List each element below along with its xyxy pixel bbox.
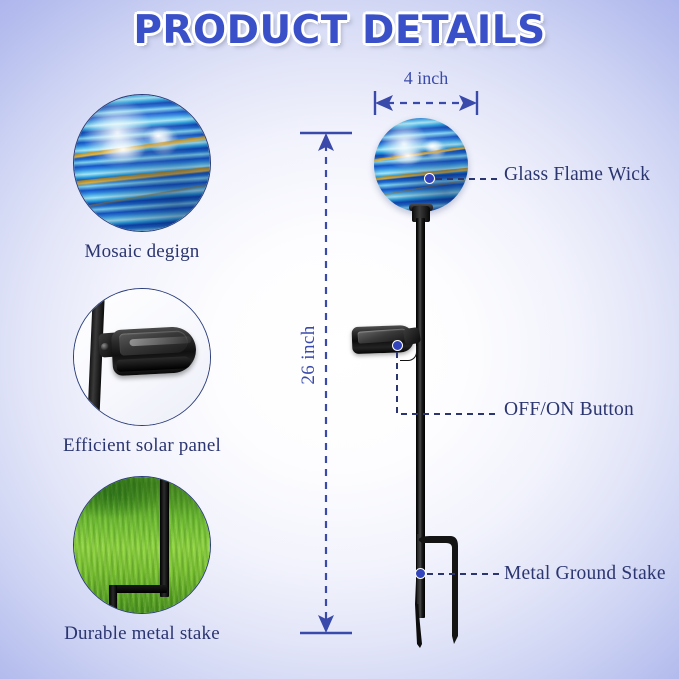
- ground-stake: [388, 532, 468, 650]
- callout-label-off-on-button: OFF/ON Button: [504, 399, 634, 421]
- glass-globe: [374, 118, 468, 212]
- product-solar-panel: [352, 324, 418, 356]
- callout-dot-glass-flame-wick[interactable]: [424, 173, 435, 184]
- callout-dot-off-on-button[interactable]: [392, 340, 403, 351]
- solar-wire: [400, 346, 417, 361]
- callout-label-glass-flame-wick: Glass Flame Wick: [504, 164, 650, 186]
- infographic-canvas: PRODUCT DETAILS Mosaic degign Efficient …: [0, 0, 679, 679]
- callout-dot-metal-ground-stake[interactable]: [415, 568, 426, 579]
- glass-globe-surface: [374, 118, 468, 212]
- callout-label-metal-ground-stake: Metal Ground Stake: [504, 563, 666, 585]
- solar-mount-arm: [403, 327, 421, 345]
